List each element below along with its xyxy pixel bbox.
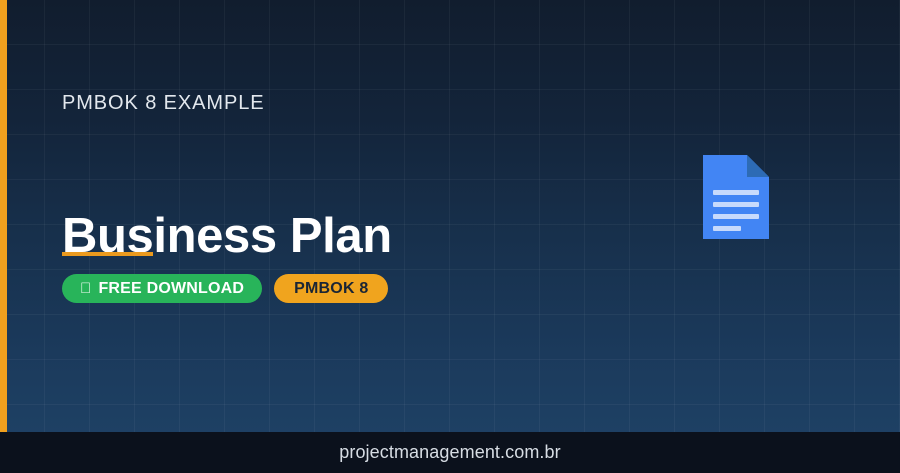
pmbok-badge[interactable]: PMBOK 8: [274, 274, 388, 303]
document-icon: [703, 155, 769, 239]
free-download-badge[interactable]:  FREE DOWNLOAD: [62, 274, 262, 303]
badge-row:  FREE DOWNLOAD PMBOK 8: [62, 274, 388, 303]
footer-url: projectmanagement.com.br: [339, 442, 561, 463]
left-accent-stripe: [0, 0, 7, 433]
free-download-badge-label: FREE DOWNLOAD: [98, 280, 244, 298]
banner-content: PMBOK 8 EXAMPLE Business Plan  FREE DOW…: [62, 0, 682, 433]
title-divider: [62, 252, 153, 256]
eyebrow-label: PMBOK 8 EXAMPLE: [62, 92, 264, 115]
promo-banner: PMBOK 8 EXAMPLE Business Plan  FREE DOW…: [0, 0, 900, 473]
pmbok-badge-label: PMBOK 8: [294, 280, 368, 298]
footer-bar: projectmanagement.com.br: [0, 432, 900, 473]
download-icon: : [80, 281, 91, 296]
